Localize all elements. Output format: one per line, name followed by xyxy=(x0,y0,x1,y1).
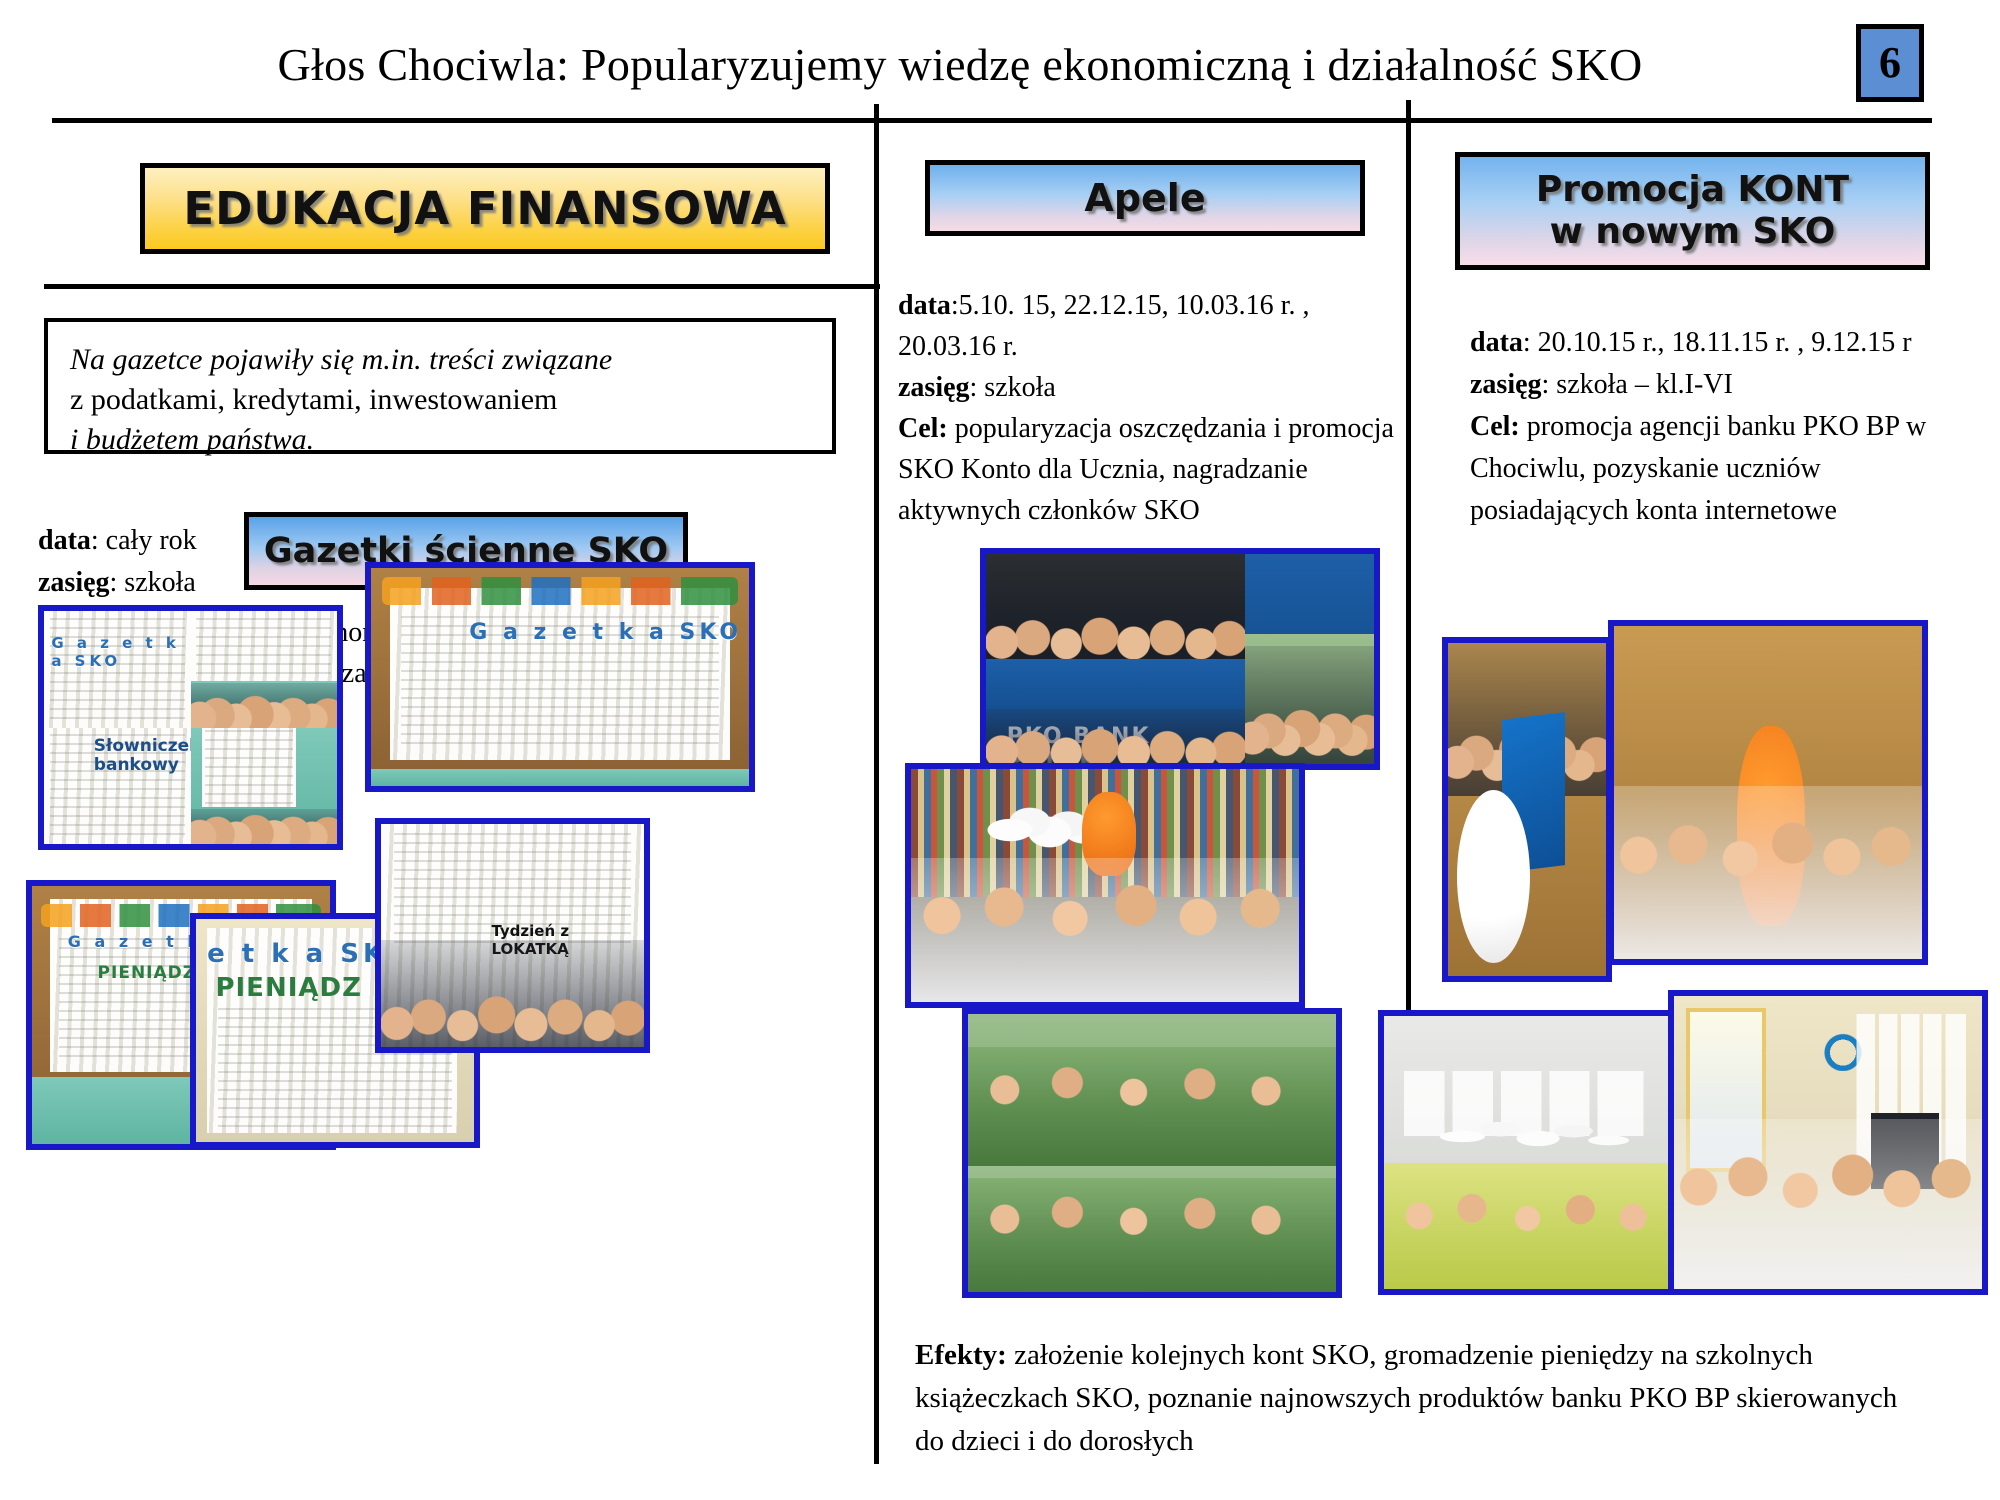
right-zasieg-value: : szkoła – kl.I-VI xyxy=(1542,369,1733,400)
photo-cell xyxy=(1245,554,1374,764)
photo-cell: G a z e t k a SKO xyxy=(44,611,191,728)
right-text-block: data: 20.10.15 r., 18.11.15 r. , 9.12.15… xyxy=(1470,322,1970,532)
photo-cell xyxy=(968,1166,1336,1292)
photo-apel-pko-bank-polski-collage: PKO BANK POLSKI xyxy=(980,548,1380,770)
column-divider-left xyxy=(874,104,879,1464)
right-zasieg-row: zasięg: szkoła – kl.I-VI xyxy=(1470,364,1970,406)
banner-apele: Apele xyxy=(925,160,1365,236)
mid-zasieg-value: : szkoła xyxy=(970,372,1056,403)
left-zasieg-value: : szkoła xyxy=(110,567,196,598)
right-zasieg-label: zasięg xyxy=(1470,369,1542,400)
left-meta-block: data: cały rok zasięg: szkoła xyxy=(38,520,238,604)
page-title: Głos Chociwla: Popularyzujemy wiedzę eko… xyxy=(120,32,1800,98)
intro-line-3: i budżetem państwa. xyxy=(70,420,832,460)
photo-pupils-at-board: Tydzień zLOKATKĄ xyxy=(375,818,650,1053)
photo-cell xyxy=(911,769,1299,1002)
mid-data-label: data xyxy=(898,290,951,321)
left-data-value: : cały rok xyxy=(91,525,197,556)
right-data-label: data xyxy=(1470,327,1523,358)
photo-sko-ball-and-flags xyxy=(1442,637,1612,982)
photo-kids-with-mascot-tiger xyxy=(1608,620,1928,965)
left-zasieg-label: zasięg xyxy=(38,567,110,598)
photo-cell xyxy=(1384,1016,1677,1289)
photo-gazetki-collage-4up: G a z e t k a SKO Słowniczekbankowy xyxy=(38,605,343,850)
mid-cel-row: Cel: popularyzacja oszczędzania i promoc… xyxy=(898,408,1398,531)
photo-cell xyxy=(191,728,338,845)
photo-cell: PKO BANK POLSKI xyxy=(986,659,1245,764)
mid-cel-value: popularyzacja oszczędzania i promocja SK… xyxy=(898,413,1394,526)
right-cel-label: Cel: xyxy=(1470,411,1520,442)
mid-data-value: :5.10. 15, 22.12.15, 10.03.16 r. , 20.03… xyxy=(898,290,1309,362)
mid-data-row: data:5.10. 15, 22.12.15, 10.03.16 r. , 2… xyxy=(898,285,1398,367)
left-data-row: data: cały rok xyxy=(38,520,238,562)
left-data-label: data xyxy=(38,525,91,556)
photo-cell xyxy=(986,554,1245,659)
efekty-label: Efekty: xyxy=(915,1339,1007,1371)
header-divider-rule xyxy=(52,118,1932,123)
left-zasieg-row: zasięg: szkoła xyxy=(38,562,238,604)
photo-cell xyxy=(968,1014,1336,1166)
photo-library-awards-group xyxy=(905,763,1305,1008)
banner-promocja-line2: w nowym SKO xyxy=(1536,211,1849,253)
photo-cell: Słowniczekbankowy xyxy=(44,728,191,845)
banner-promocja-line1: Promocja KONT xyxy=(1536,169,1849,211)
photo-gazetka-sko-wall: G a z e t k a SKO xyxy=(365,562,755,792)
photo-cell xyxy=(1674,996,1982,1289)
right-data-row: data: 20.10.15 r., 18.11.15 r. , 9.12.15… xyxy=(1470,322,1970,364)
mid-zasieg-label: zasięg xyxy=(898,372,970,403)
efekty-value: założenie kolejnych kont SKO, gromadzeni… xyxy=(915,1339,1897,1457)
photo-cell xyxy=(1448,643,1606,976)
rule-under-edukacja-banner xyxy=(44,284,880,289)
mid-zasieg-row: zasięg: szkoła xyxy=(898,367,1398,408)
photo-bank-agency-desk xyxy=(1668,990,1988,1295)
photo-balloons-corridor xyxy=(1378,1010,1683,1295)
intro-line-1: Na gazetce pojawiły się m.in. treści zwi… xyxy=(70,340,832,380)
intro-text-box: Na gazetce pojawiły się m.in. treści zwi… xyxy=(44,318,836,454)
right-data-value: : 20.10.15 r., 18.11.15 r. , 9.12.15 r xyxy=(1523,327,1912,358)
right-cel-row: Cel: promocja agencji banku PKO BP w Cho… xyxy=(1470,406,1970,532)
banner-edukacja-finansowa: EDUKACJA FINANSOWA xyxy=(140,163,830,254)
photo-cell: Tydzień zLOKATKĄ xyxy=(381,824,644,1047)
mid-cel-label: Cel: xyxy=(898,413,948,444)
photo-cell xyxy=(1614,626,1922,959)
efekty-block: Efekty: założenie kolejnych kont SKO, gr… xyxy=(915,1334,1915,1463)
column-divider-right xyxy=(1406,100,1411,1010)
photo-cell xyxy=(191,611,338,728)
middle-text-block: data:5.10. 15, 22.12.15, 10.03.16 r. , 2… xyxy=(898,285,1398,531)
photo-cell: G a z e t k a SKO xyxy=(371,568,749,786)
banner-promocja-kont: Promocja KONT w nowym SKO xyxy=(1455,152,1930,270)
photo-green-day-assembly xyxy=(962,1008,1342,1298)
intro-line-2: z podatkami, kredytami, inwestowaniem xyxy=(70,380,832,420)
right-cel-value: promocja agencji banku PKO BP w Chociwlu… xyxy=(1470,411,1926,526)
page-number: 6 xyxy=(1856,24,1924,102)
